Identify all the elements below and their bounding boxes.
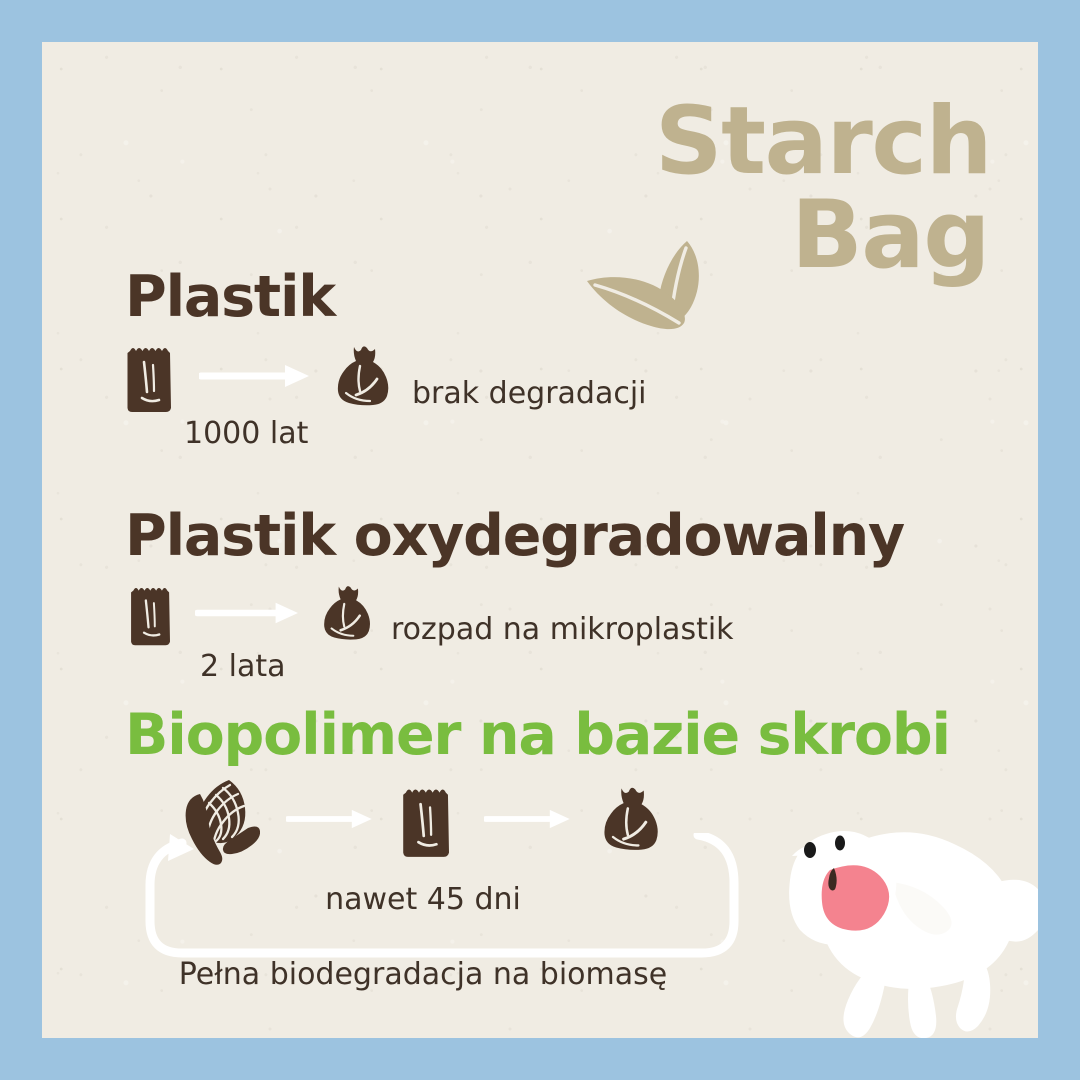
plastic-bag-icon bbox=[123, 338, 181, 414]
section-title-biopolymer: Biopolimer na bazie skrobi bbox=[125, 707, 804, 764]
flow-arrow-icon bbox=[286, 806, 374, 832]
dog-illustration bbox=[760, 810, 1038, 1038]
plastic-bag-icon bbox=[398, 779, 460, 859]
content-panel: Starch Bag Plastik bbox=[42, 42, 1038, 1038]
crumpled-bag-icon bbox=[317, 581, 377, 645]
duration-label-biopolymer: nawet 45 dni bbox=[128, 882, 718, 917]
section-oxo-plastic: Plastik oxydegradowalny bbox=[84, 508, 904, 684]
flow-arrow-icon bbox=[484, 806, 572, 832]
logo-text-starch: Starch bbox=[571, 99, 991, 185]
section-biopolymer: Biopolimer na bazie skrobi bbox=[84, 707, 804, 992]
flow-row-oxo: rozpad na mikroplastik bbox=[127, 579, 904, 647]
infographic-poster: Starch Bag Plastik bbox=[0, 0, 1080, 1080]
flow-arrow-icon bbox=[199, 361, 314, 391]
flow-arrow-icon bbox=[195, 599, 303, 627]
duration-label-oxo: 2 lata bbox=[200, 649, 904, 684]
outcome-label-plastic: brak degradacji bbox=[412, 342, 647, 411]
section-plastic: Plastik bbox=[84, 269, 647, 451]
dog-eye-right bbox=[835, 836, 845, 851]
crumpled-bag-icon bbox=[330, 341, 396, 411]
plastic-bag-icon bbox=[127, 579, 179, 647]
flow-row-plastic: brak degradacji bbox=[123, 338, 647, 414]
section-title-oxo: Plastik oxydegradowalny bbox=[125, 508, 904, 565]
flow-row-biopolymer bbox=[174, 772, 804, 866]
outcome-label-oxo: rozpad na mikroplastik bbox=[391, 580, 734, 647]
outcome-label-biopolymer: Pełna biodegradacja na biomasę bbox=[128, 957, 718, 992]
crumpled-bag-icon bbox=[596, 782, 666, 856]
section-title-plastic: Plastik bbox=[125, 269, 647, 326]
duration-label-plastic: 1000 lat bbox=[184, 416, 647, 451]
dog-eye-left bbox=[804, 842, 816, 858]
corn-cob-icon bbox=[174, 772, 260, 866]
